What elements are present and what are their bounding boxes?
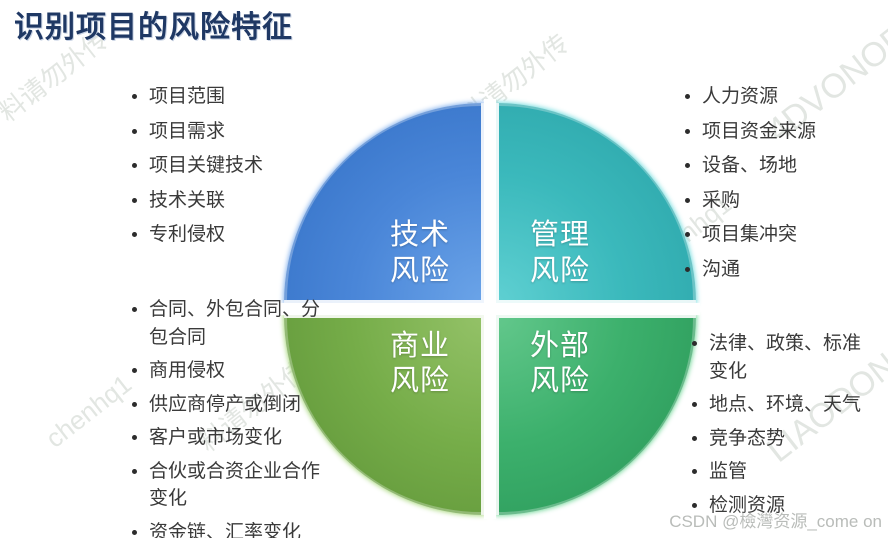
list-technology-risk: 项目范围 项目需求 项目关键技术 技术关联 专利侵权 xyxy=(132,83,312,256)
quadrant-management-label-line1: 管理 xyxy=(530,219,590,251)
list-item: 合同、外包合同、分包合同 xyxy=(132,296,322,351)
list-item: 法律、政策、标准变化 xyxy=(692,330,872,385)
list-item: 检测资源 xyxy=(692,492,872,520)
list-item: 项目需求 xyxy=(132,118,312,146)
list-item: 资金链、汇率变化 xyxy=(132,519,322,538)
list-item: 监管 xyxy=(692,458,872,486)
list-item: 客户或市场变化 xyxy=(132,424,322,452)
list-item: 项目范围 xyxy=(132,83,312,111)
quadrant-business-label: 商业 风险 xyxy=(370,329,470,400)
list-item: 采购 xyxy=(685,187,880,215)
watermark-diagonal: chenhq1 xyxy=(40,369,138,455)
slide-canvas: 料请勿外传 资料请勿外传 chenhq1 chenhq1 资料请勿外传 4DVO… xyxy=(0,0,888,538)
quadrant-external-risk[interactable]: 外部 风险 xyxy=(496,315,696,515)
quadrant-technology-label-line1: 技术 xyxy=(390,219,450,251)
quadrant-management-label: 管理 风险 xyxy=(510,218,610,289)
list-item: 商用侵权 xyxy=(132,357,322,385)
quadrant-external-label-line2: 风险 xyxy=(530,365,590,397)
quadrant-external-label: 外部 风险 xyxy=(510,329,610,400)
list-item: 供应商停产或倒闭 xyxy=(132,391,322,419)
list-item: 项目关键技术 xyxy=(132,152,312,180)
list-external-risk: 法律、政策、标准变化 地点、环境、天气 竞争态势 监管 检测资源 xyxy=(692,330,872,525)
list-item: 人力资源 xyxy=(685,83,880,111)
quadrant-horizontal-divider xyxy=(280,303,700,315)
risk-quadrant-diagram: 技术 风险 管理 风险 商业 风险 外部 风险 xyxy=(284,103,696,515)
list-item: 设备、场地 xyxy=(685,152,880,180)
quadrant-external-label-line1: 外部 xyxy=(530,330,590,362)
page-title: 识别项目的风险特征 xyxy=(14,2,293,46)
list-business-risk: 合同、外包合同、分包合同 商用侵权 供应商停产或倒闭 客户或市场变化 合伙或合资… xyxy=(132,296,322,538)
list-item: 专利侵权 xyxy=(132,221,312,249)
quadrant-technology-label-line2: 风险 xyxy=(390,255,450,287)
list-management-risk: 人力资源 项目资金来源 设备、场地 采购 项目集冲突 沟通 xyxy=(685,83,880,290)
quadrant-technology-risk[interactable]: 技术 风险 xyxy=(284,103,484,303)
list-item: 合伙或合资企业合作变化 xyxy=(132,458,322,513)
quadrant-management-risk[interactable]: 管理 风险 xyxy=(496,103,696,303)
list-item: 竞争态势 xyxy=(692,425,872,453)
quadrant-technology-label: 技术 风险 xyxy=(370,218,470,289)
list-item: 项目集冲突 xyxy=(685,221,880,249)
list-item: 地点、环境、天气 xyxy=(692,391,872,419)
list-item: 技术关联 xyxy=(132,187,312,215)
quadrant-business-label-line2: 风险 xyxy=(390,365,450,397)
list-item: 沟通 xyxy=(685,256,880,284)
quadrant-management-label-line2: 风险 xyxy=(530,255,590,287)
list-item: 项目资金来源 xyxy=(685,118,880,146)
quadrant-business-label-line1: 商业 xyxy=(390,330,450,362)
